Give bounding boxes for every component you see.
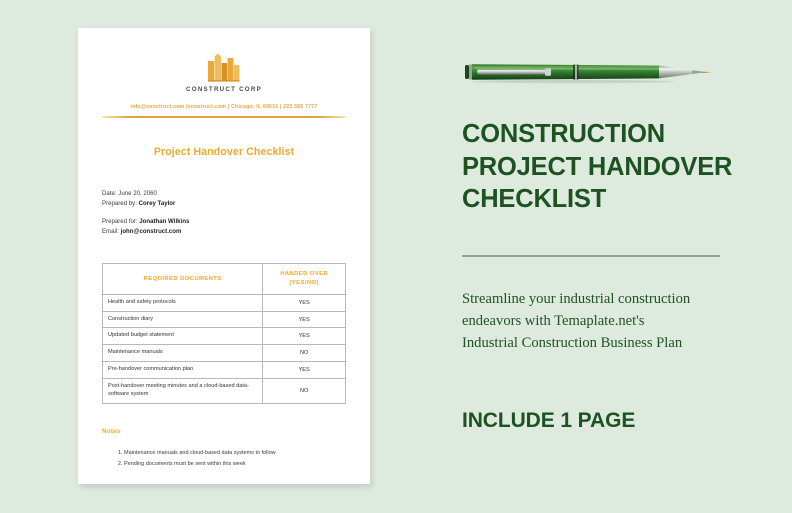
promo-headline-line3: CHECKLIST <box>462 183 782 216</box>
document-page: CONSTRUCT CORP info@construct.com |const… <box>78 28 370 484</box>
meta-prepared-for-value: Jonathan Wilkins <box>139 218 189 225</box>
cell-handed-over: YES <box>263 311 346 328</box>
promo-headline-line2: PROJECT HANDOVER <box>462 151 782 184</box>
gold-divider <box>102 116 346 118</box>
contact-line: info@construct.com |construct.com | Chic… <box>102 104 346 110</box>
meta-date-label: Date: <box>102 190 117 197</box>
meta-spacer <box>102 210 346 217</box>
notes-list: Maintenance manuals and cloud-based data… <box>102 448 346 471</box>
document-meta: Date: June 20, 2060 Prepared by: Corey T… <box>102 189 346 238</box>
table-row: Construction diary YES <box>103 311 346 328</box>
meta-prepared-by-value: Corey Taylor <box>139 200 176 207</box>
cell-document: Construction diary <box>103 311 263 328</box>
promo-page-count: INCLUDE 1 PAGE <box>462 409 635 433</box>
table-row: Maintenance manuals NO <box>103 345 346 362</box>
table-row: Post-handover meeting minutes and a clou… <box>103 379 346 404</box>
promo-divider <box>462 255 720 257</box>
meta-date-value: June 20, 2060 <box>118 190 157 197</box>
green-ballpoint-pen-icon <box>463 52 719 97</box>
company-logo: CONSTRUCT CORP <box>102 42 346 93</box>
table-header-row: REQUIRED DOCUMENTS HANDED OVER [YES/NO] <box>103 264 346 294</box>
meta-prepared-for: Prepared for: Jonathan Wilkins <box>102 217 346 227</box>
table-row: Health and safety protocols YES <box>103 294 346 311</box>
checklist-table-body: Health and safety protocols YES Construc… <box>103 294 346 404</box>
table-row: Pre-handover communication plan YES <box>103 362 346 379</box>
promo-headline-line1: CONSTRUCTION <box>462 118 782 151</box>
checklist-table: REQUIRED DOCUMENTS HANDED OVER [YES/NO] … <box>102 263 346 404</box>
cell-document: Post-handover meeting minutes and a clou… <box>103 379 263 404</box>
promo-headline: CONSTRUCTION PROJECT HANDOVER CHECKLIST <box>462 118 782 216</box>
column-header-handed-over-line2: [YES/NO] <box>267 279 341 288</box>
logo-brand-name: CONSTRUCT CORP <box>102 86 346 93</box>
page-title: Project Handover Checklist <box>102 146 346 158</box>
column-header-required-documents: REQUIRED DOCUMENTS <box>103 264 263 294</box>
building-skyline-icon <box>102 52 346 82</box>
promo-blurb: Streamline your industrial construction … <box>462 288 702 355</box>
column-header-handed-over: HANDED OVER [YES/NO] <box>263 264 346 294</box>
cell-handed-over: NO <box>263 345 346 362</box>
cell-handed-over: YES <box>263 362 346 379</box>
cell-document: Updated budget statement <box>103 328 263 345</box>
meta-prepared-by-label: Prepared by: <box>102 200 137 207</box>
cell-handed-over: YES <box>263 328 346 345</box>
meta-prepared-for-label: Prepared for: <box>102 218 138 225</box>
cell-document: Health and safety protocols <box>103 294 263 311</box>
cell-document: Maintenance manuals <box>103 345 263 362</box>
cell-handed-over: NO <box>263 379 346 404</box>
column-header-handed-over-line1: HANDED OVER <box>267 270 341 279</box>
meta-email: Email: john@construct.com <box>102 227 346 237</box>
meta-prepared-by: Prepared by: Corey Taylor <box>102 199 346 209</box>
meta-email-value: john@construct.com <box>121 228 182 235</box>
list-item: Maintenance manuals and cloud-based data… <box>124 448 346 459</box>
meta-date: Date: June 20, 2060 <box>102 189 346 199</box>
promo-panel: CONSTRUCTION PROJECT HANDOVER CHECKLIST … <box>455 0 792 513</box>
meta-email-label: Email: <box>102 228 119 235</box>
table-row: Updated budget statement YES <box>103 328 346 345</box>
cell-handed-over: YES <box>263 294 346 311</box>
cell-document: Pre-handover communication plan <box>103 362 263 379</box>
list-item: Pending documents must be sent within th… <box>124 459 346 470</box>
notes-heading: Notes <box>102 428 346 435</box>
